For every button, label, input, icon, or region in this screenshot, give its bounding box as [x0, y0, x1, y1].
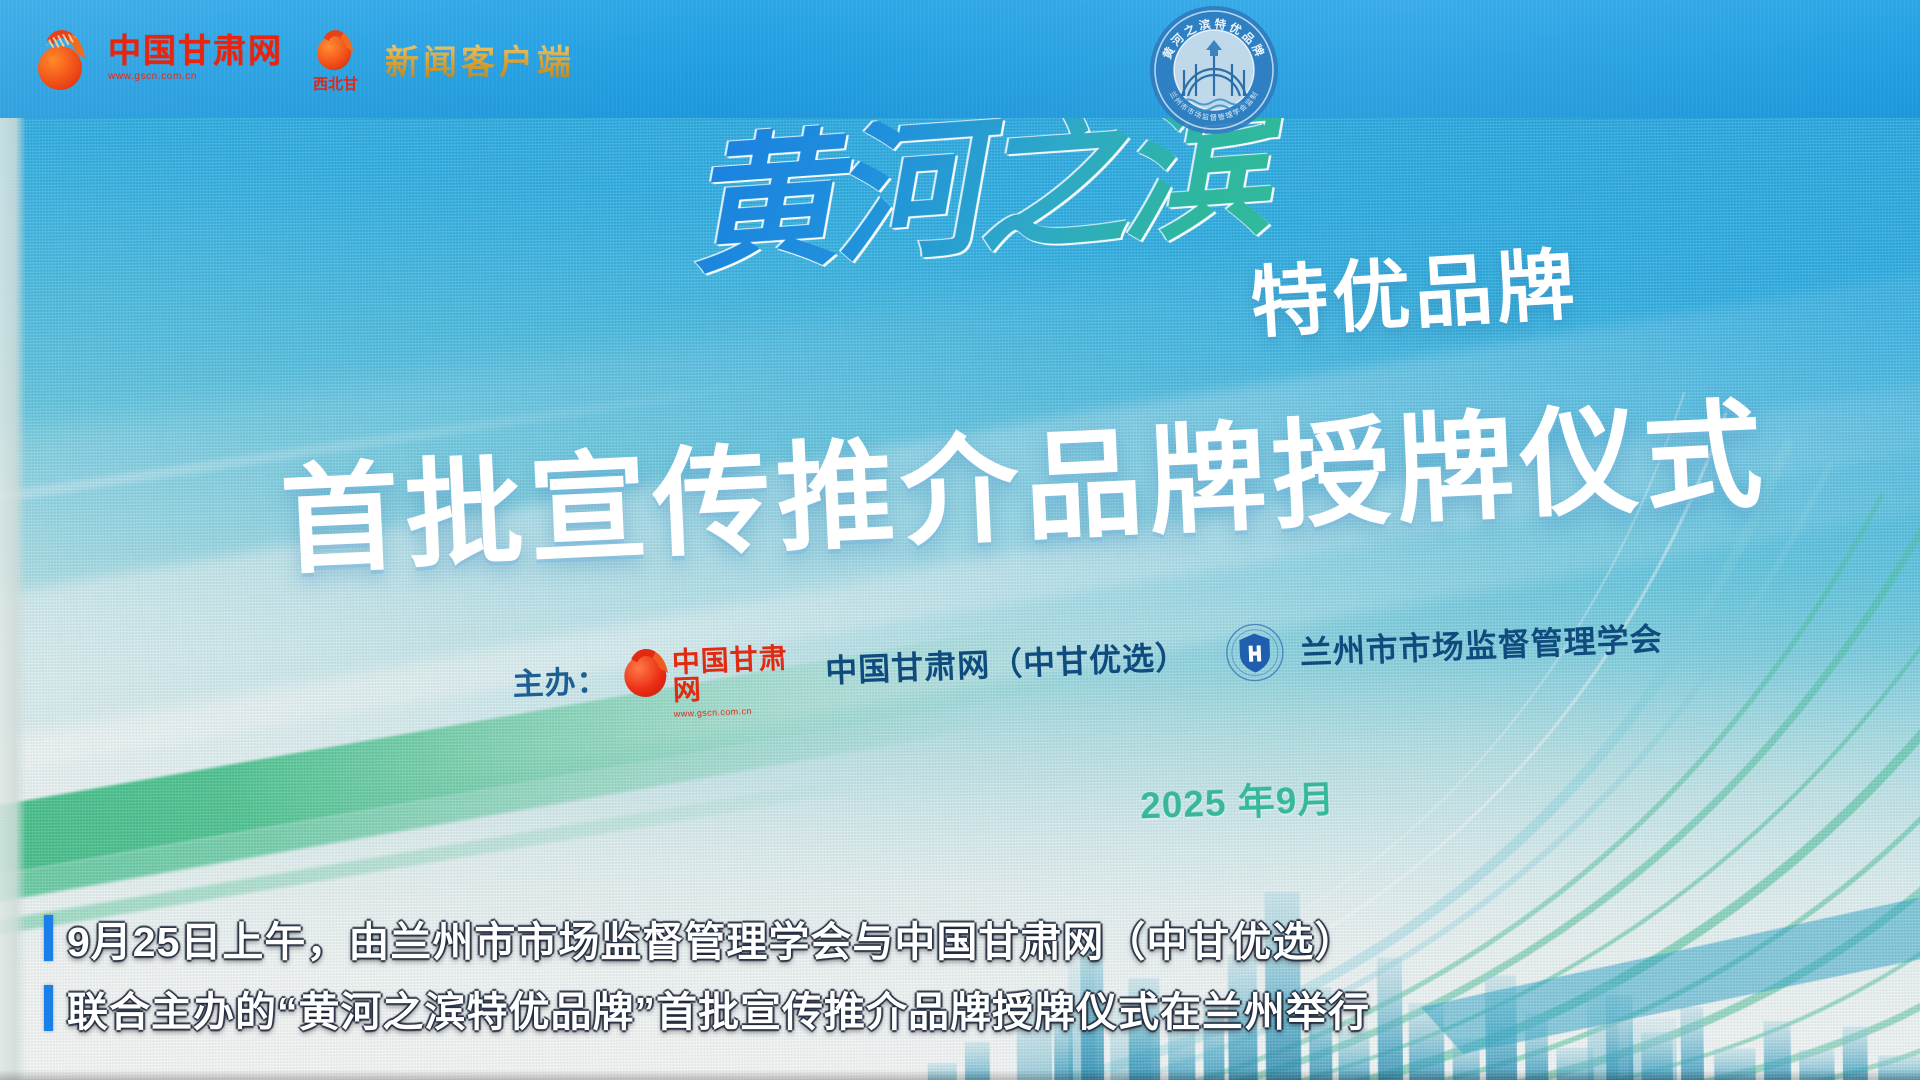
news-app-label: 新闻客户端 — [385, 35, 575, 84]
gansu-net-logo-name: 中国甘肃网 — [671, 645, 810, 706]
event-date: 2025 年9月 — [1139, 769, 1336, 830]
brand-suffix: 特优品牌 — [1247, 222, 1581, 353]
left-wall-edge — [0, 118, 26, 1080]
caption-block: 9月25日上午，由兰州市市场监督管理学会与中国甘肃网（中甘优选） 联合主办的“黄… — [44, 908, 1370, 1038]
organizer-one-name: 中国甘肃网（中甘优选） — [824, 632, 1189, 692]
broadcaster-logo-bar: 中国甘肃网 www.gscn.com.cn 西北甘 新闻客户端 — [34, 24, 575, 94]
gansu-net-mark-icon — [34, 28, 86, 90]
bottom-shade — [0, 1070, 1920, 1080]
caption-accent-bar — [44, 985, 53, 1031]
gansu-net-logo: 中国甘肃网 www.gscn.com.cn — [623, 643, 810, 704]
caption-accent-bar — [44, 915, 53, 961]
caption-line-1-text: 9月25日上午，由兰州市市场监督管理学会与中国甘肃网（中甘优选） — [67, 908, 1356, 968]
gansu-net-wordmark: 中国甘肃网 www.gscn.com.cn — [108, 36, 283, 82]
screenshot-root: 黄河之滨特优品牌 兰州市市场监督管理学会监制 黄河之滨 特优品牌 首批宣传推介品… — [0, 0, 1920, 1080]
xibeigan-name: 西北甘 — [313, 73, 358, 94]
gansu-net-name: 中国甘肃网 — [108, 36, 283, 69]
organizer-label: 主办： — [512, 655, 610, 704]
caption-line-2-text: 联合主办的“黄河之滨特优品牌”首批宣传推介品牌授牌仪式在兰州举行 — [67, 978, 1370, 1038]
shield-circle-icon — [1225, 622, 1285, 682]
caption-line-1: 9月25日上午，由兰州市市场监督管理学会与中国甘肃网（中甘优选） — [44, 908, 1370, 968]
event-emblem: 黄河之滨特优品牌 兰州市市场监督管理学会监制 — [1148, 4, 1280, 136]
gansu-net-url: www.gscn.com.cn — [108, 72, 283, 82]
organizer-two-name: 兰州市市场监督管理学会 — [1299, 614, 1664, 674]
caption-line-2: 联合主办的“黄河之滨特优品牌”首批宣传推介品牌授牌仪式在兰州举行 — [44, 978, 1370, 1038]
xibeigan-mark-icon: 西北甘 — [315, 28, 355, 90]
zhongshan-bridge-icon: 黄河之滨特优品牌 兰州市市场监督管理学会监制 — [1148, 4, 1280, 136]
lanzhou-association-logo — [1225, 622, 1285, 682]
